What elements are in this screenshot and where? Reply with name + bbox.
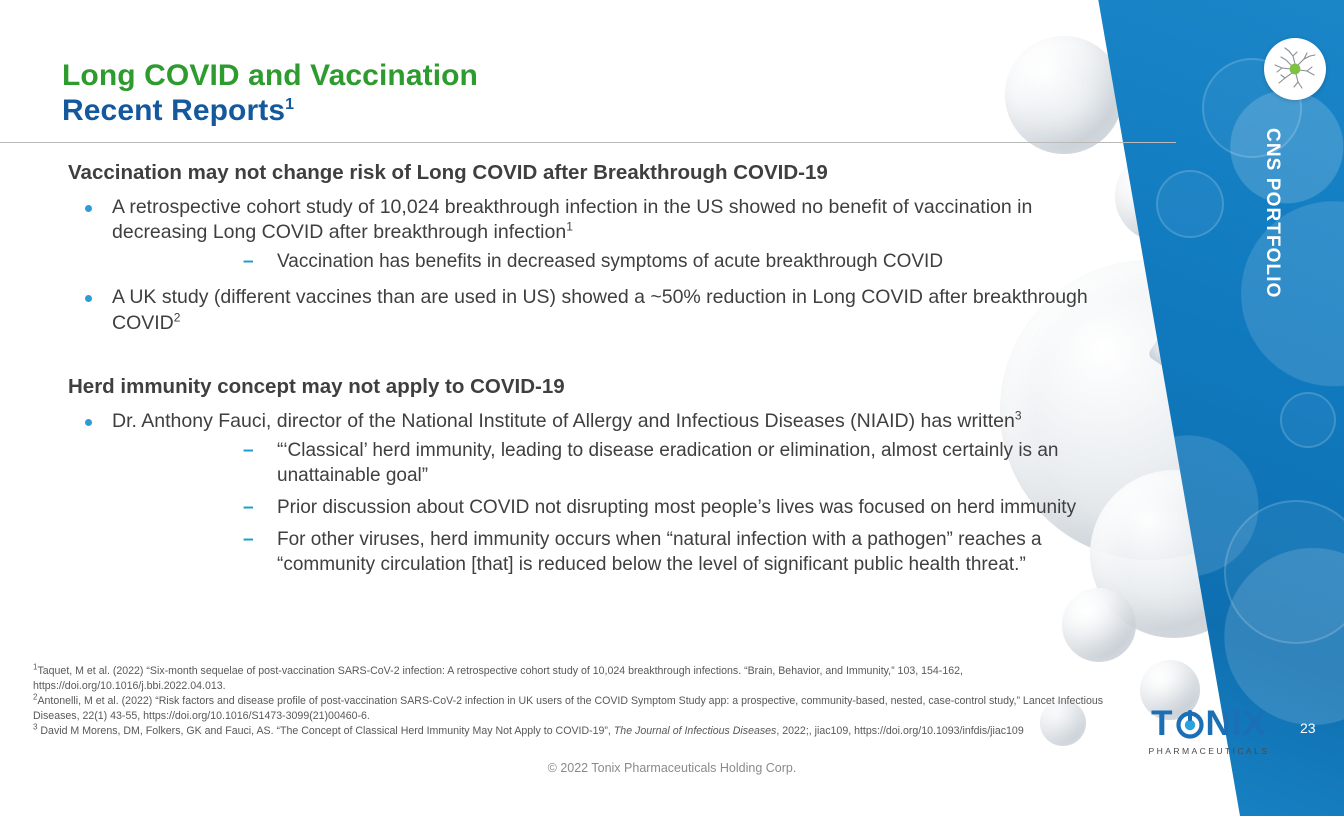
slide-canvas: CNS PORTFOLIO Long COVID and Vaccination… — [0, 0, 1344, 816]
page-subtitle-superscript: 1 — [285, 96, 294, 113]
tonix-wordmark: T NIX — [1136, 706, 1282, 741]
list-item: – For other viruses, herd immunity occur… — [112, 525, 1120, 579]
list-item-text: For other viruses, herd immunity occurs … — [277, 529, 1042, 575]
title-divider-rule — [0, 142, 1176, 143]
list-item: – “‘Classical’ herd immunity, leading to… — [112, 436, 1120, 490]
bullet-list-level1: Dr. Anthony Fauci, director of the Natio… — [0, 407, 1120, 585]
bullet-dot-icon — [85, 295, 92, 302]
list-item: – Vaccination has benefits in decreased … — [112, 247, 1120, 276]
tonix-letter-t: T — [1151, 706, 1173, 741]
bullet-list-level2: – “‘Classical’ herd immunity, leading to… — [112, 436, 1120, 579]
section-vaccination-risk: Vaccination may not change risk of Long … — [0, 160, 1120, 338]
section-heading: Herd immunity concept may not apply to C… — [68, 374, 1120, 401]
footnote-text: Taquet, M et al. (2022) “Six-month seque… — [33, 665, 963, 692]
page-subtitle-text: Recent Reports — [62, 94, 285, 127]
list-item-superscript: 1 — [566, 219, 573, 233]
section-spacer — [0, 340, 1120, 374]
footnote-2: 2Antonelli, M et al. (2022) “Risk factor… — [33, 694, 1133, 724]
slide-body: Vaccination may not change risk of Long … — [0, 160, 1120, 586]
footnote-text: Antonelli, M et al. (2022) “Risk factors… — [33, 695, 1103, 722]
list-item-text: Vaccination has benefits in decreased sy… — [277, 251, 943, 272]
tonix-letters-nix: NIX — [1206, 706, 1267, 741]
list-item: Dr. Anthony Fauci, director of the Natio… — [0, 407, 1120, 585]
list-item-text: Dr. Anthony Fauci, director of the Natio… — [112, 410, 1015, 432]
bullet-dot-icon — [85, 205, 92, 212]
page-number: 23 — [1300, 720, 1316, 736]
bullet-dot-icon — [85, 419, 92, 426]
bullet-dash-icon: – — [243, 527, 254, 552]
section-heading: Vaccination may not change risk of Long … — [68, 160, 1120, 187]
title-block: Long COVID and Vaccination Recent Report… — [62, 58, 478, 129]
neuron-badge — [1264, 38, 1326, 100]
footnote-text-cont: , 2022;, jiac109, https://doi.org/10.109… — [776, 725, 1023, 737]
neuron-icon — [1269, 43, 1321, 95]
list-item: A UK study (different vaccines than are … — [0, 283, 1120, 338]
side-label-cns-portfolio: CNS PORTFOLIO — [1261, 128, 1283, 299]
bullet-list-level2: – Vaccination has benefits in decreased … — [112, 247, 1120, 276]
list-item: A retrospective cohort study of 10,024 b… — [0, 193, 1120, 282]
list-item: – Prior discussion about COVID not disru… — [112, 493, 1120, 522]
list-item-text: “‘Classical’ herd immunity, leading to d… — [277, 440, 1058, 486]
tonix-power-o-icon — [1175, 709, 1205, 739]
tonix-logo-subtitle: PHARMACEUTICALS — [1136, 746, 1282, 756]
bullet-list-level1: A retrospective cohort study of 10,024 b… — [0, 193, 1120, 338]
footnote-journal-title: The Journal of Infectious Diseases — [614, 725, 777, 737]
tonix-logo: T NIX PHARMACEUTICALS — [1136, 706, 1282, 756]
list-item-superscript: 2 — [174, 310, 181, 324]
list-item-text: Prior discussion about COVID not disrupt… — [277, 497, 1076, 518]
footnote-text: David M Morens, DM, Folkers, GK and Fauc… — [37, 725, 613, 737]
bullet-dash-icon: – — [243, 438, 254, 463]
list-item-text: A UK study (different vaccines than are … — [112, 286, 1088, 333]
list-item-superscript: 3 — [1015, 408, 1022, 422]
page-title-primary: Long COVID and Vaccination — [62, 58, 478, 93]
footnote-1: 1Taquet, M et al. (2022) “Six-month sequ… — [33, 664, 1133, 694]
bullet-dash-icon: – — [243, 495, 254, 520]
copyright-notice: © 2022 Tonix Pharmaceuticals Holding Cor… — [0, 761, 1344, 775]
section-herd-immunity: Herd immunity concept may not apply to C… — [0, 374, 1120, 584]
page-title-secondary: Recent Reports1 — [62, 93, 478, 128]
footnote-3: 3 David M Morens, DM, Folkers, GK and Fa… — [33, 724, 1133, 739]
footnotes-block: 1Taquet, M et al. (2022) “Six-month sequ… — [33, 664, 1133, 739]
bullet-dash-icon: – — [243, 249, 254, 274]
